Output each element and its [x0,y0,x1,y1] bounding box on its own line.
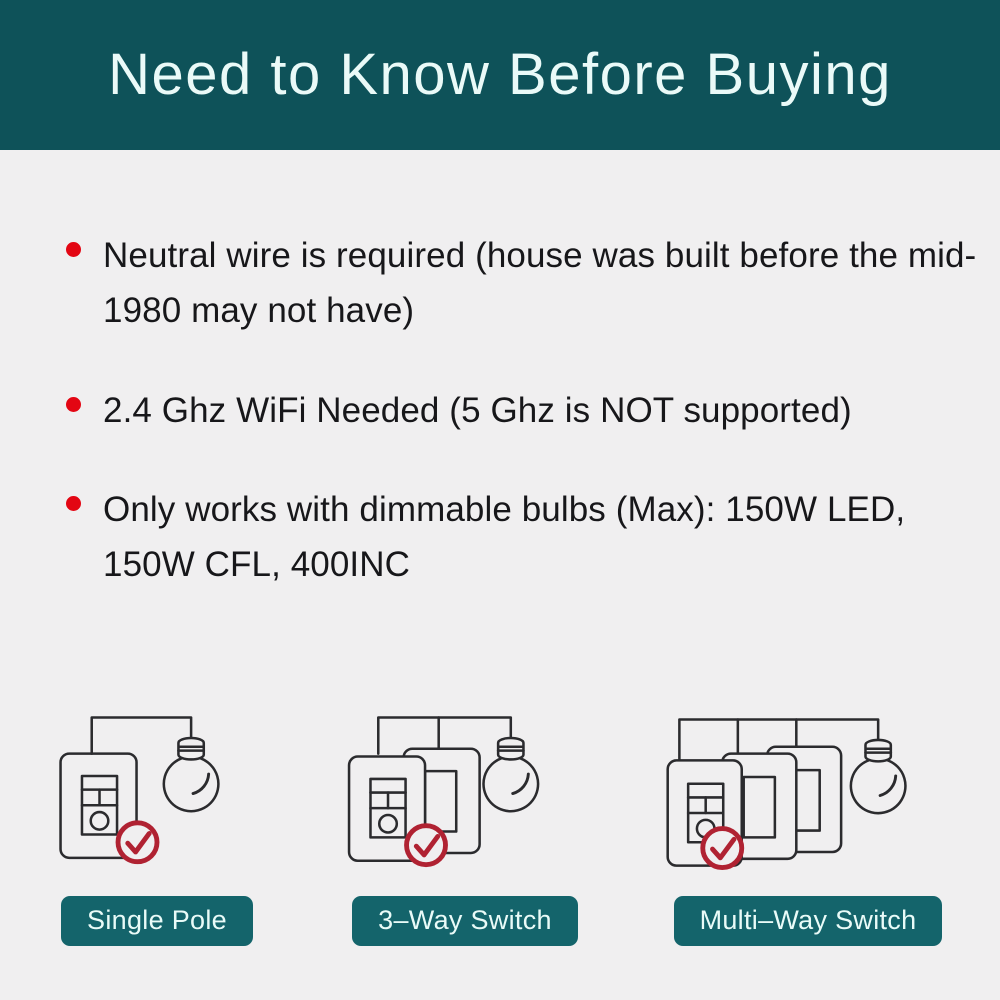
bullet-dot-icon [66,397,81,412]
label-single-pole[interactable]: Single Pole [61,896,253,946]
multi-way-wiring-icon [658,700,958,890]
infographic-page: Need to Know Before Buying Neutral wire … [0,0,1000,1000]
diagram-multi-way: Multi–Way Switch [658,700,958,946]
list-item: 2.4 Ghz WiFi Needed (5 Ghz is NOT suppor… [66,383,986,438]
compatibility-diagrams: Single Pole [0,700,1000,970]
label-three-way[interactable]: 3–Way Switch [352,896,578,946]
requirements-list: Neutral wire is required (house was buil… [0,150,1000,636]
check-badge-icon [703,829,742,868]
label-multi-way[interactable]: Multi–Way Switch [674,896,943,946]
list-item-label: Neutral wire is required (house was buil… [103,228,986,339]
bullet-dot-icon [66,496,81,511]
list-item: Neutral wire is required (house was buil… [66,228,986,339]
diagram-single-pole: Single Pole [42,700,272,946]
page-title: Need to Know Before Buying [108,46,892,104]
list-item-label: Only works with dimmable bulbs (Max): 15… [103,482,986,593]
diagram-three-way: 3–Way Switch [340,700,590,946]
header-banner: Need to Know Before Buying [0,0,1000,150]
list-item-label: 2.4 Ghz WiFi Needed (5 Ghz is NOT suppor… [103,383,986,438]
three-way-wiring-icon [340,700,590,890]
bullet-dot-icon [66,242,81,257]
list-item: Only works with dimmable bulbs (Max): 15… [66,482,986,593]
check-badge-icon [407,826,446,865]
single-pole-wiring-icon [42,700,272,890]
check-badge-icon [118,823,157,862]
